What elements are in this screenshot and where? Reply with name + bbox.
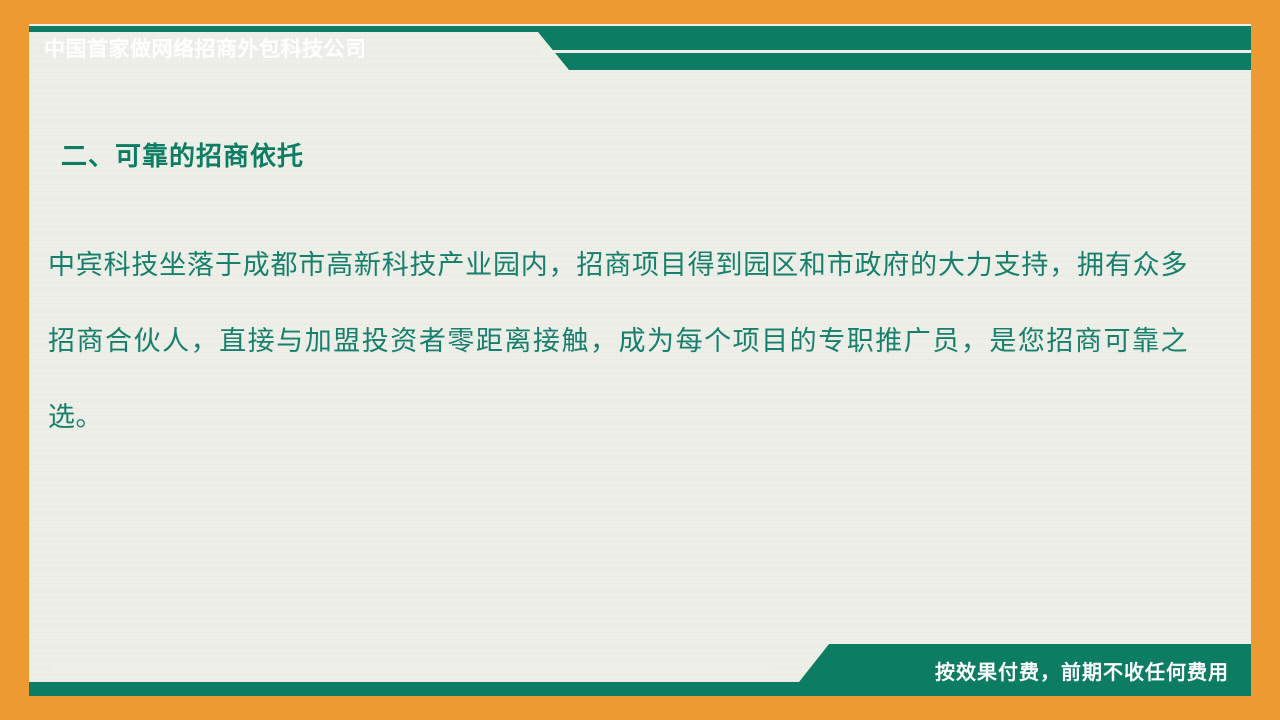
header-title: 中国首家做网络招商外包科技公司 [44,26,367,70]
body-paragraph: 中宾科技坐落于成都市高新科技产业园内，招商项目得到园区和市政府的大力支持，拥有众… [48,228,1188,456]
slide-root: 中国首家做网络招商外包科技公司 二、可靠的招商依托 中宾科技坐落于成都市高新科技… [0,0,1280,720]
slide-footer: 按效果付费，前期不收任何费用 [29,644,1251,696]
footer-tagline: 按效果付费，前期不收任何费用 [935,644,1229,696]
header-notch-line [541,50,1251,53]
slide-header: 中国首家做网络招商外包科技公司 [29,26,1251,70]
footer-notch-line [50,666,773,669]
section-heading: 二、可靠的招商依托 [61,136,304,173]
